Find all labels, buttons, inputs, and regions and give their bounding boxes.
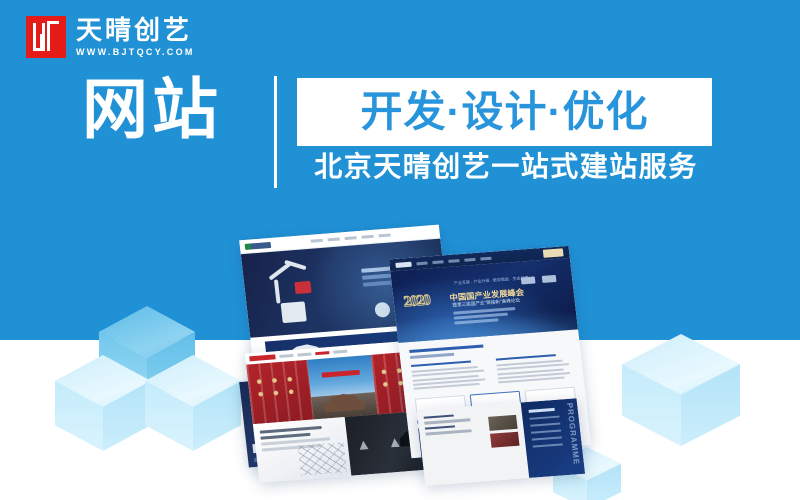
nav-item	[333, 350, 347, 354]
nav-item	[361, 235, 373, 239]
section-heading	[409, 345, 483, 354]
text-line	[529, 416, 559, 420]
cube-decoration-mid-left	[55, 355, 151, 451]
feature-icon	[390, 438, 400, 448]
nav-item	[344, 236, 356, 240]
nav-item	[480, 256, 491, 260]
nav-item-active	[315, 351, 329, 355]
sketch-illustration	[298, 442, 347, 475]
feature-circle	[374, 302, 391, 318]
thumbnail	[488, 415, 518, 431]
nav-item	[464, 257, 475, 261]
conference-year: 2020	[403, 292, 431, 311]
nav-item	[432, 260, 443, 264]
cube-decoration-left-lower	[145, 355, 241, 451]
red-door-left	[246, 360, 314, 424]
thumbnail	[490, 432, 520, 448]
register-button	[543, 248, 564, 257]
nav-item	[378, 233, 390, 237]
feature-icon	[359, 440, 369, 450]
text-column	[411, 359, 489, 392]
text-column	[496, 353, 574, 386]
nav-item	[328, 237, 340, 241]
programme-right-column: PROGRAMME	[520, 398, 585, 478]
arm-column	[274, 279, 281, 303]
programme-left-column	[417, 402, 529, 485]
column-heading	[411, 360, 471, 367]
text-line	[454, 318, 498, 324]
mockup-conference-logo	[395, 261, 412, 267]
text-line	[424, 419, 470, 425]
article-card	[253, 417, 351, 483]
gate-photo	[307, 355, 378, 420]
column-heading	[496, 354, 556, 361]
text-line	[532, 443, 562, 447]
nav-item	[311, 239, 323, 243]
gate-silhouette	[321, 387, 367, 412]
nav-item	[297, 353, 311, 357]
text-line	[260, 426, 323, 434]
two-column-text	[411, 353, 574, 392]
cube-decoration-right	[622, 334, 740, 446]
mockup-culture-logo	[249, 354, 276, 361]
text-line	[530, 423, 560, 427]
mockup-programme-panel: PROGRAMME	[417, 398, 585, 486]
nav-item	[416, 261, 427, 265]
mockup-conference-hero: 产业互联 · 产业升级 · 数字赋能 · 生态共建 2020 中国国产业发展峰会…	[390, 258, 578, 343]
text-line	[424, 415, 454, 420]
mockup-medical-nav-items	[311, 233, 391, 242]
conference-eyebrow: 产业互联 · 产业升级 · 数字赋能 · 生态共建	[454, 275, 529, 287]
nav-item	[279, 354, 293, 358]
programme-heading	[528, 408, 554, 413]
text-line	[532, 436, 562, 440]
partner-logo	[542, 275, 557, 283]
robotic-arm-illustration	[264, 258, 329, 328]
section-subheading	[410, 353, 454, 359]
text-line	[425, 425, 455, 430]
text-line	[425, 429, 471, 435]
text-line	[531, 429, 561, 433]
programme-rows	[529, 416, 563, 453]
programme-thumbnails	[488, 415, 519, 448]
arm-base	[281, 301, 307, 323]
nav-item	[448, 259, 459, 263]
gate-photo-title	[322, 370, 360, 378]
mockup-medical-logo	[245, 241, 272, 249]
arm-head	[294, 281, 311, 294]
banner-canvas: 天晴创艺 WWW.BJTQCY.COM 网站 开发·设计·优化 北京天晴创艺一站…	[0, 0, 800, 500]
